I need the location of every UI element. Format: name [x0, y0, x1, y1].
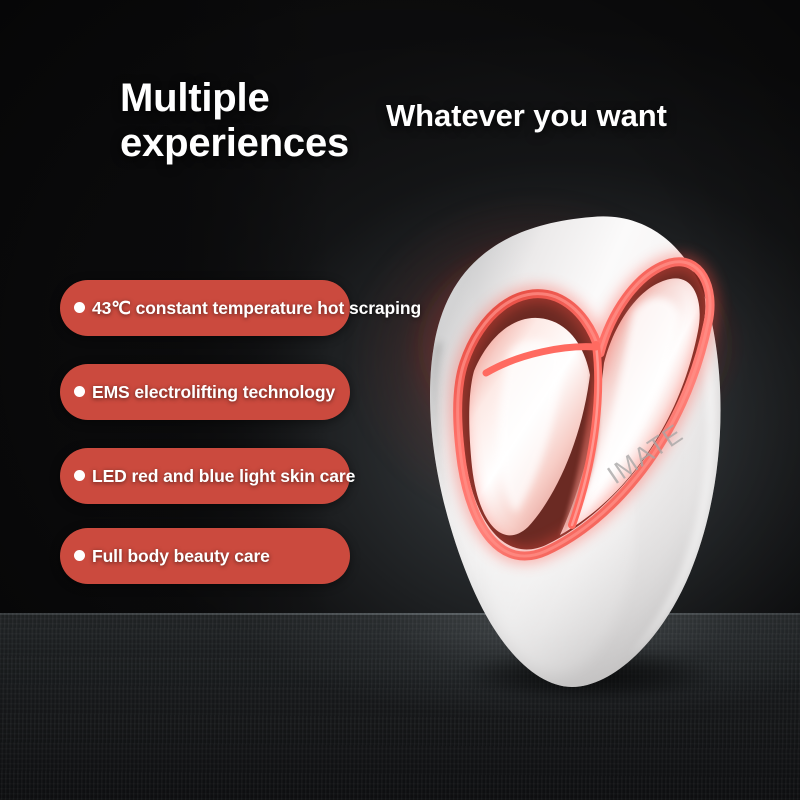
feature-bullet-dot-icon-3	[74, 470, 85, 481]
product-device: IMATE	[360, 195, 760, 695]
feature-pill-4[interactable]	[60, 528, 350, 584]
feature-bullet-dot-icon-1	[74, 302, 85, 313]
feature-bullet-dot-icon-4	[74, 550, 85, 561]
feature-pill-3[interactable]	[60, 448, 350, 504]
product-marketing-banner: IMATE Multiple experiences Whatever you …	[0, 0, 800, 800]
headline-secondary: Whatever you want	[386, 98, 667, 134]
feature-pill-2[interactable]	[60, 364, 350, 420]
headline-primary: Multiple experiences	[120, 76, 420, 166]
feature-pill-1[interactable]	[60, 280, 350, 336]
feature-bullet-dot-icon-2	[74, 386, 85, 397]
